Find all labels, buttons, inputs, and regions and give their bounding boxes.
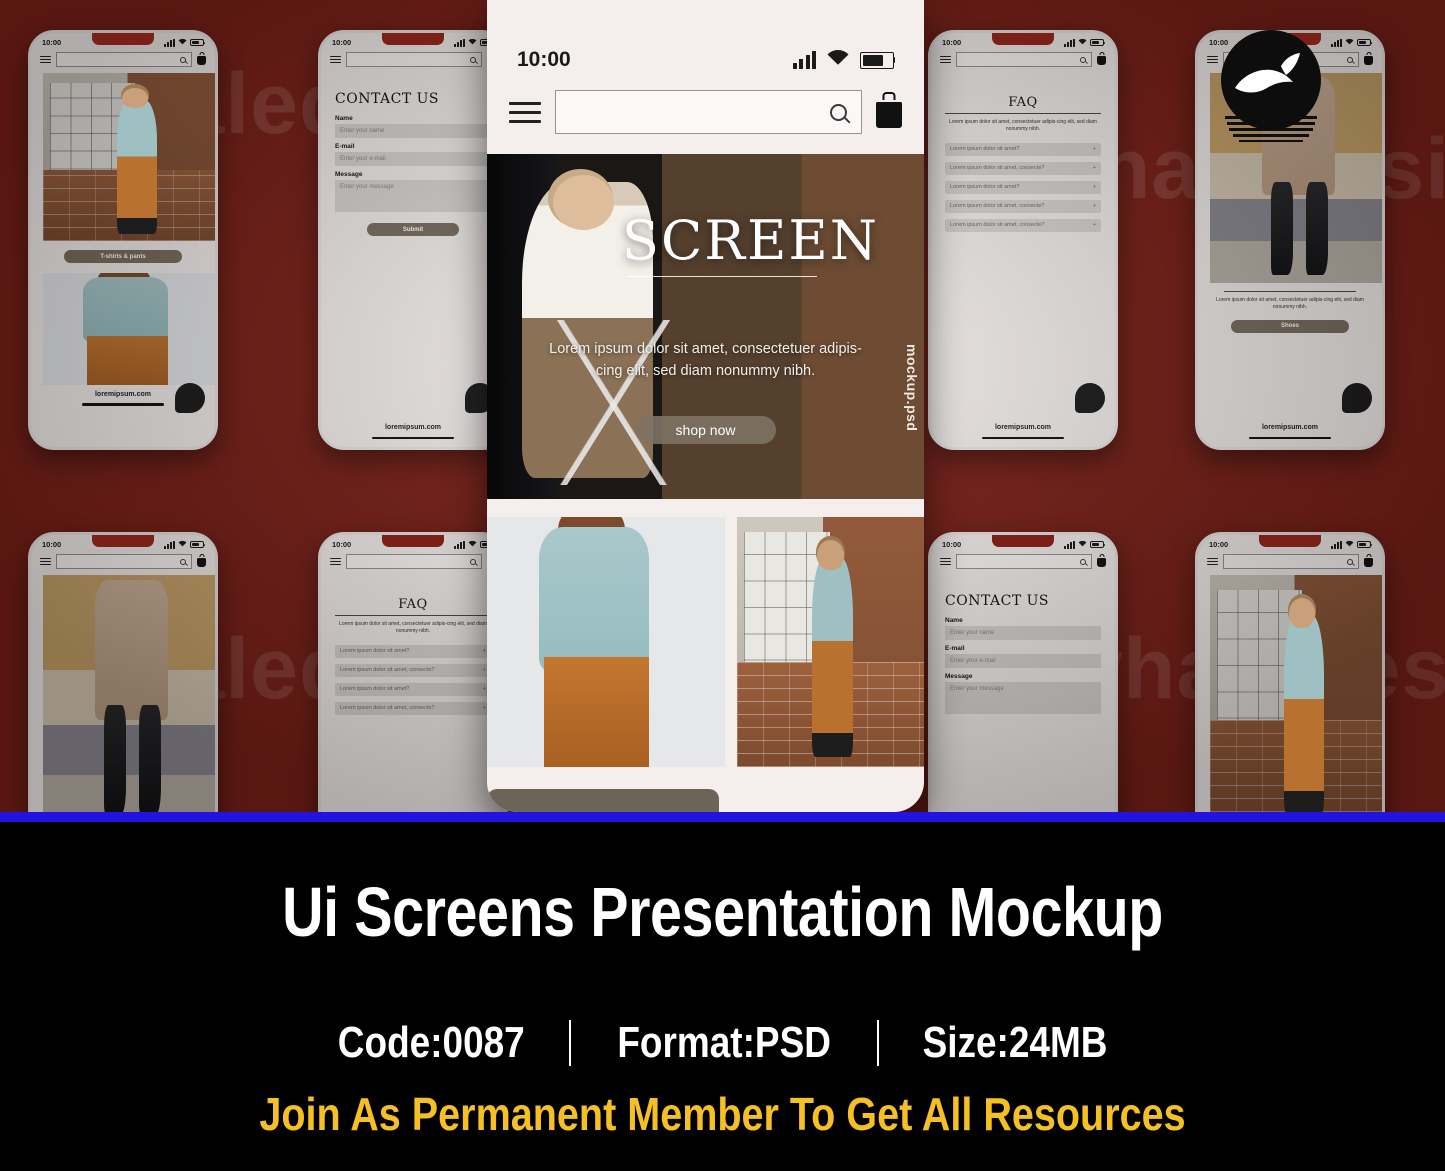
status-icons — [1331, 38, 1371, 47]
chat-blob-icon[interactable] — [175, 383, 205, 413]
hamburger-menu-icon[interactable] — [330, 56, 341, 64]
search-icon — [830, 104, 847, 121]
chat-blob-icon[interactable] — [1342, 383, 1372, 413]
status-time: 10:00 — [1209, 540, 1228, 549]
product-image — [1210, 73, 1385, 283]
status-time: 10:00 — [1209, 38, 1228, 47]
phone-notch — [1259, 33, 1321, 45]
status-time: 10:00 — [942, 38, 961, 47]
field-label-message: Message — [945, 673, 1101, 680]
footer-code: Code:0087 — [338, 1018, 525, 1068]
page-title: FAQ — [335, 597, 491, 612]
secondary-image — [43, 273, 218, 385]
status-icons — [793, 48, 895, 72]
product-image — [43, 575, 218, 812]
name-field[interactable]: Enter your name — [335, 124, 491, 138]
field-label-message: Message — [335, 171, 491, 178]
wifi-icon — [1078, 540, 1087, 549]
status-icons — [1064, 38, 1104, 47]
phone-top-faq[interactable]: 10:00 FAQ Lorem ipsum dol — [928, 30, 1118, 450]
hero-banner: SCREEN Lorem ipsum dolor sit amet, conse… — [487, 154, 924, 499]
mockup-canvas: whaledesign whaledesign whaledesign whal… — [0, 0, 1445, 1171]
search-input[interactable] — [1223, 554, 1359, 569]
gallery-image-left[interactable] — [487, 517, 725, 767]
signal-icon — [1064, 541, 1075, 549]
wifi-icon — [826, 48, 850, 72]
phone-center-featured[interactable]: 10:00 — [487, 0, 924, 812]
app-navbar — [1198, 48, 1382, 73]
app-navbar — [1198, 550, 1382, 575]
product-image — [1210, 575, 1385, 812]
home-indicator — [82, 403, 164, 406]
field-label-email: E-mail — [335, 143, 491, 150]
email-field[interactable]: Enter your e-mail — [335, 152, 491, 166]
page-title: CONTACT US — [335, 91, 491, 107]
message-field[interactable]: Enter your message — [945, 682, 1101, 714]
faq-row[interactable]: Lorem ipsum dolor sit amet? + — [945, 143, 1101, 156]
faq-intro: Lorem ipsum dolor sit amet, consectetuer… — [335, 621, 491, 636]
phone-bottom-right[interactable]: 10:00 — [1195, 532, 1385, 812]
search-input[interactable] — [956, 554, 1092, 569]
phone-notch — [992, 535, 1054, 547]
faq-row[interactable]: Lorem ipsum dolor sit amet, consecte? + — [335, 702, 491, 715]
status-bar: 10:00 — [487, 34, 924, 78]
search-icon — [180, 57, 186, 63]
signal-icon — [793, 51, 817, 69]
psd-file-label: mockup.psd — [904, 344, 920, 431]
product-image — [43, 73, 218, 241]
search-input[interactable] — [346, 554, 482, 569]
search-icon — [180, 559, 186, 565]
hamburger-menu-icon[interactable] — [40, 558, 51, 566]
footer-meta: Code:0087 Format:PSD Size:24MB — [0, 1018, 1445, 1068]
submit-button[interactable]: Submit — [367, 223, 459, 236]
product-gallery — [487, 499, 924, 767]
phone-bottom-contact[interactable]: 10:00 CONTACT US Name — [928, 532, 1118, 812]
showcase-area: whaledesign whaledesign whaledesign whal… — [0, 0, 1445, 812]
search-icon — [470, 559, 476, 565]
hamburger-menu-icon[interactable] — [940, 558, 951, 566]
signal-icon — [164, 541, 175, 549]
hamburger-menu-icon[interactable] — [940, 56, 951, 64]
phone-top-left[interactable]: 10:00 T-shirts & pants — [28, 30, 218, 450]
field-label-name: Name — [945, 617, 1101, 624]
battery-icon — [1357, 541, 1371, 548]
cart-icon[interactable] — [197, 54, 206, 65]
faq-question: Lorem ipsum dolor sit amet, consecte? — [950, 203, 1044, 209]
email-field[interactable]: Enter your e-mail — [945, 654, 1101, 668]
phone-top-contact[interactable]: 10:00 CONTACT US Name — [318, 30, 508, 450]
home-indicator — [1249, 437, 1331, 440]
faq-row[interactable]: Lorem ipsum dolor sit amet, consecte? + — [335, 664, 491, 677]
search-input[interactable] — [346, 52, 482, 67]
phone-top-right[interactable]: 10:00 Lorem ipsum dol — [1195, 30, 1385, 450]
search-input[interactable] — [956, 52, 1092, 67]
status-time: 10:00 — [517, 48, 571, 72]
hamburger-menu-icon[interactable] — [1207, 558, 1218, 566]
expand-icon: + — [1093, 165, 1096, 171]
battery-icon — [860, 52, 894, 69]
page-title: FAQ — [945, 95, 1101, 110]
search-input[interactable] — [56, 52, 192, 67]
field-label-name: Name — [335, 115, 491, 122]
battery-icon — [190, 39, 204, 46]
wifi-icon — [468, 38, 477, 47]
phone-notch — [382, 33, 444, 45]
faq-question: Lorem ipsum dolor sit amet? — [340, 648, 409, 654]
battery-icon — [190, 541, 204, 548]
hero-copy: Lorem ipsum dolor sit amet, consectetuer… — [547, 339, 864, 383]
signal-icon — [454, 39, 465, 47]
faq-row[interactable]: Lorem ipsum dolor sit amet, consecte? + — [945, 162, 1101, 175]
wifi-icon — [178, 540, 187, 549]
name-field[interactable]: Enter your name — [945, 626, 1101, 640]
phone-notch — [92, 535, 154, 547]
gallery-image-right[interactable] — [737, 517, 924, 767]
blue-divider — [0, 812, 1445, 822]
category-button[interactable]: T-shirts & pants — [64, 250, 182, 263]
status-time: 10:00 — [942, 540, 961, 549]
footer-banner: Ui Screens Presentation Mockup Code:0087… — [0, 822, 1445, 1171]
search-icon — [1080, 559, 1086, 565]
expand-icon: + — [483, 648, 486, 654]
faq-row[interactable]: Lorem ipsum dolor sit amet, consecte? + — [945, 200, 1101, 213]
expand-icon: + — [1093, 184, 1096, 190]
footer-separator — [877, 1020, 879, 1066]
wifi-icon — [468, 540, 477, 549]
wifi-icon — [1345, 540, 1354, 549]
gallery-cta-button[interactable] — [487, 789, 719, 812]
signal-icon — [1331, 39, 1342, 47]
signal-icon — [1331, 541, 1342, 549]
expand-icon: + — [483, 705, 486, 711]
wifi-icon — [178, 38, 187, 47]
expand-icon: + — [1093, 203, 1096, 209]
signal-icon — [164, 39, 175, 47]
cart-icon[interactable] — [1097, 54, 1106, 65]
faq-question: Lorem ipsum dolor sit amet, consecte? — [950, 222, 1044, 228]
cart-icon[interactable] — [1364, 556, 1373, 567]
field-label-email: E-mail — [945, 645, 1101, 652]
cart-icon[interactable] — [197, 556, 206, 567]
faq-question: Lorem ipsum dolor sit amet? — [340, 686, 409, 692]
phone-bottom-faq[interactable]: 10:00 FAQ Lorem ipsum dol — [318, 532, 508, 812]
hero-underline — [627, 276, 817, 277]
cart-icon[interactable] — [876, 97, 902, 128]
home-indicator — [372, 437, 454, 440]
app-navbar — [321, 550, 505, 575]
search-icon — [470, 57, 476, 63]
hamburger-menu-icon[interactable] — [330, 558, 341, 566]
status-time: 10:00 — [332, 540, 351, 549]
battery-icon — [1090, 541, 1104, 548]
page-title: CONTACT US — [945, 593, 1101, 609]
faq-intro: Lorem ipsum dolor sit amet, consectetuer… — [945, 119, 1101, 134]
battery-icon — [1357, 39, 1371, 46]
phone-bottom-left[interactable]: 10:00 — [28, 532, 218, 812]
expand-icon: + — [483, 686, 486, 692]
faq-row[interactable]: Lorem ipsum dolor sit amet, consecte? + — [945, 219, 1101, 232]
signal-icon — [1064, 39, 1075, 47]
faq-question: Lorem ipsum dolor sit amet, consecte? — [950, 165, 1044, 171]
chat-blob-icon[interactable] — [1075, 383, 1105, 413]
site-footer-label: loremipsum.com — [931, 424, 1115, 431]
footer-separator — [569, 1020, 571, 1066]
faq-question: Lorem ipsum dolor sit amet, consecte? — [340, 705, 434, 711]
status-icons — [164, 38, 204, 47]
expand-icon: + — [1093, 222, 1096, 228]
hero-title: SCREEN — [622, 209, 879, 272]
phone-notch — [92, 33, 154, 45]
app-navbar — [931, 550, 1115, 575]
app-navbar — [321, 48, 505, 73]
status-time: 10:00 — [42, 540, 61, 549]
footer-format: Format:PSD — [617, 1018, 831, 1068]
message-field[interactable]: Enter your message — [335, 180, 491, 212]
app-navbar — [31, 48, 215, 73]
cart-icon[interactable] — [1097, 556, 1106, 567]
cart-icon[interactable] — [1364, 54, 1373, 65]
faq-row[interactable]: Lorem ipsum dolor sit amet? + — [335, 645, 491, 658]
wifi-icon — [1078, 38, 1087, 47]
search-input[interactable] — [555, 90, 862, 134]
category-button[interactable]: Shoes — [1231, 320, 1349, 333]
faq-question: Lorem ipsum dolor sit amet, consecte? — [340, 667, 434, 673]
hamburger-menu-icon[interactable] — [1207, 56, 1218, 64]
expand-icon: + — [483, 667, 486, 673]
search-icon — [1347, 57, 1353, 63]
phone-notch — [487, 0, 677, 34]
site-footer-label: loremipsum.com — [1198, 424, 1382, 431]
footer-join-cta: Join As Permanent Member To Get All Reso… — [101, 1087, 1344, 1141]
phone-notch — [382, 535, 444, 547]
phone-notch — [1259, 535, 1321, 547]
hamburger-menu-icon[interactable] — [509, 102, 541, 123]
status-time: 10:00 — [42, 38, 61, 47]
product-caption: Lorem ipsum dolor sit amet, consectetuer… — [1198, 297, 1382, 312]
battery-icon — [1090, 39, 1104, 46]
status-icons — [164, 540, 204, 549]
faq-question: Lorem ipsum dolor sit amet? — [950, 146, 1019, 152]
status-icons — [1064, 540, 1104, 549]
footer-title: Ui Screens Presentation Mockup — [130, 872, 1315, 952]
search-input[interactable] — [56, 554, 192, 569]
faq-question: Lorem ipsum dolor sit amet? — [950, 184, 1019, 190]
signal-icon — [454, 541, 465, 549]
status-icons — [1331, 540, 1371, 549]
app-navbar — [487, 78, 924, 154]
faq-row[interactable]: Lorem ipsum dolor sit amet? + — [945, 181, 1101, 194]
site-footer-label: loremipsum.com — [321, 424, 505, 431]
phone-notch — [992, 33, 1054, 45]
hamburger-menu-icon[interactable] — [40, 56, 51, 64]
app-navbar — [31, 550, 215, 575]
expand-icon: + — [1093, 146, 1096, 152]
faq-row[interactable]: Lorem ipsum dolor sit amet? + — [335, 683, 491, 696]
app-navbar — [931, 48, 1115, 73]
home-indicator — [982, 437, 1064, 440]
footer-size: Size:24MB — [922, 1018, 1107, 1068]
status-time: 10:00 — [332, 38, 351, 47]
search-input[interactable] — [1223, 52, 1359, 67]
wifi-icon — [1345, 38, 1354, 47]
search-icon — [1080, 57, 1086, 63]
shop-now-button[interactable]: shop now — [636, 416, 776, 444]
search-icon — [1347, 559, 1353, 565]
